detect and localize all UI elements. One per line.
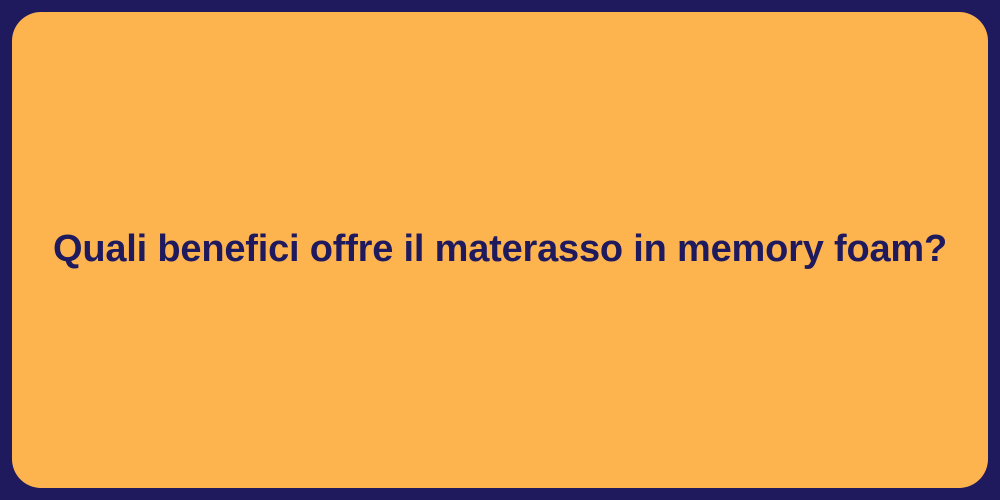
faq-card: Quali benefici offre il materasso in mem…	[12, 12, 988, 488]
faq-question-text: Quali benefici offre il materasso in mem…	[25, 226, 975, 274]
faq-card-frame: Quali benefici offre il materasso in mem…	[0, 0, 1000, 500]
